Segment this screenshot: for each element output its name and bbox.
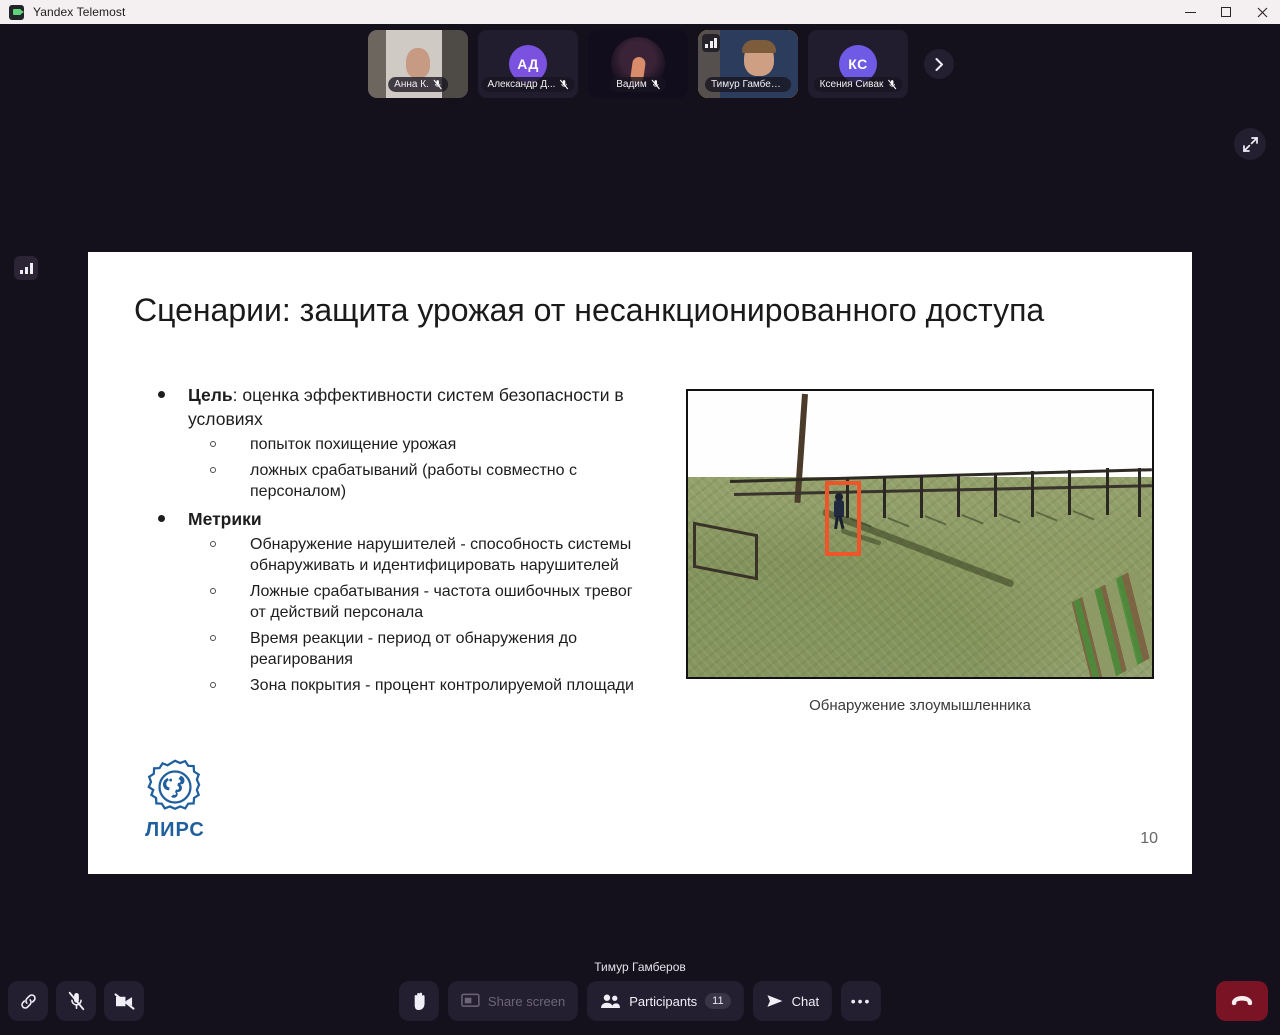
sub-bullet-item: Обнаружение нарушителей - способность си… [188,534,652,577]
expand-fullscreen-button[interactable] [1234,128,1266,160]
mic-off-icon [433,79,442,90]
filmstrip-next-button[interactable] [924,49,954,79]
raise-hand-button[interactable] [399,981,439,1021]
control-bar-center: Share screen Participants 11 Chat [399,981,881,1021]
sub-bullet-item: попыток похищение урожая [188,434,652,456]
fence-post [1068,470,1071,516]
chevron-right-icon [935,58,944,71]
lirs-logo-text: ЛИРС [136,819,214,842]
slide-bullet-list: Цель: оценка эффективности систем безопа… [140,383,652,700]
hand-icon [409,991,428,1012]
active-presenter-name: Тимур Гамберов [0,960,1280,974]
presentation-slide: Сценарии: защита урожая от несанкциониро… [88,252,1192,874]
fence-post [1106,468,1109,515]
more-options-button[interactable]: ••• [841,981,881,1021]
avatar-initials: АД [517,56,539,72]
bullet-rest: : оценка эффективности систем безопаснос… [188,385,624,429]
participant-name: Анна К. [394,79,429,90]
slide-figure: Обнаружение злоумышленника [686,389,1154,714]
minimize-button[interactable] [1172,0,1208,24]
sub-bullet-dot-icon [210,441,216,447]
participant-name: Вадим [616,79,647,90]
sub-bullet-text: ложных срабатываний (работы совместно с … [250,460,652,503]
participant-tile-aleksandr[interactable]: АД Александр Д... [478,30,578,98]
sub-bullet-text: Обнаружение нарушителей - способность си… [250,534,652,577]
share-screen-label: Share screen [488,994,565,1009]
control-bar-right [1216,981,1268,1021]
participants-label: Participants [629,994,697,1009]
participant-tile-anna[interactable]: Анна К. [368,30,468,98]
sub-bullet-item: Ложные срабатывания - частота ошибочных … [188,581,652,624]
sub-bullet-text: Зона покрытия - процент контролируемой п… [250,675,652,697]
fence-post [1138,468,1141,517]
chat-button[interactable]: Chat [753,981,832,1021]
ellipsis-icon: ••• [851,993,872,1009]
bullet-dot-icon [158,515,165,522]
gear-dragon-logo-icon [145,757,205,817]
participant-nameplate: Тимур Гамберов [705,77,791,92]
sub-bullet-text: попыток похищение урожая [250,434,652,456]
fence-post [994,473,997,517]
window-title-bar: Yandex Telemost [0,0,1280,24]
meeting-window: Анна К. АД Александр Д... [0,24,1280,1035]
bullet-lead: Метрики [188,509,262,529]
meeting-control-bar: Share screen Participants 11 Chat [0,975,1280,1035]
bullet-item: Цель: оценка эффективности систем безопа… [140,383,652,503]
slide-title: Сценарии: защита урожая от несанкциониро… [134,292,1152,329]
maximize-button[interactable] [1208,0,1244,24]
shared-screen-stage: Сценарии: защита урожая от несанкциониро… [0,100,1280,960]
share-screen-button[interactable]: Share screen [448,981,578,1021]
app-icon [9,5,24,20]
sub-bullet-item: ложных срабатываний (работы совместно с … [188,460,652,503]
figure-caption: Обнаружение злоумышленника [686,697,1154,714]
participants-count-badge: 11 [705,993,730,1009]
participant-tile-vadim[interactable]: Вадим [588,30,688,98]
bullet-text: Цель: оценка эффективности систем безопа… [188,383,652,431]
detection-bounding-box [825,481,861,556]
people-icon [600,993,621,1009]
sub-bullet-dot-icon [210,467,216,473]
participant-nameplate: Александр Д... [482,77,575,92]
window-controls [1172,0,1280,24]
screen-share-icon [461,993,480,1009]
send-icon [766,993,784,1009]
participant-nameplate: Анна К. [388,77,448,92]
participant-name: Тимур Гамберов [711,79,785,90]
screen-share-indicator-icon [14,256,38,280]
fence-post [920,475,923,518]
sub-bullet-item: Время реакции - период от обнаружения до… [188,628,652,671]
sky [688,391,1152,480]
link-icon [19,992,38,1011]
close-button[interactable] [1244,0,1280,24]
camera-button[interactable] [104,981,144,1021]
participant-tile-timur[interactable]: Тимур Гамберов [698,30,798,98]
mic-off-icon [651,79,660,90]
detection-screenshot [686,389,1154,679]
participant-tile-kseniya[interactable]: КС Ксения Сивак [808,30,908,98]
participant-nameplate: Ксения Сивак [814,77,903,92]
participant-filmstrip: Анна К. АД Александр Д... [368,28,954,100]
copy-link-button[interactable] [8,981,48,1021]
chat-label: Chat [792,994,819,1009]
sub-bullet-dot-icon [210,635,216,641]
bullet-dot-icon [158,391,165,398]
control-bar-left [8,981,144,1021]
screen-share-badge-icon [702,34,720,52]
camera-off-icon [114,993,135,1010]
fence-post [883,477,886,518]
avatar-initials: КС [848,56,867,72]
sub-bullet-item: Зона покрытия - процент контролируемой п… [188,675,652,697]
sub-bullet-dot-icon [210,682,216,688]
window-title: Yandex Telemost [33,5,125,19]
microphone-button[interactable] [56,981,96,1021]
mic-off-icon [67,991,86,1011]
slide-number: 10 [1140,830,1158,848]
lirs-logo: ЛИРС [136,757,214,842]
mic-off-icon [559,79,568,90]
mic-off-icon [887,79,896,90]
sub-bullet-dot-icon [210,541,216,547]
participant-name: Ксения Сивак [820,79,884,90]
bullet-lead: Цель [188,385,233,405]
bullet-item: Метрики Обнаружение нарушителей - способ… [140,507,652,697]
sub-bullet-text: Время реакции - период от обнаружения до… [250,628,652,671]
phone-hangup-icon [1230,995,1254,1008]
participants-button[interactable]: Participants 11 [587,981,743,1021]
sub-bullet-text: Ложные срабатывания - частота ошибочных … [250,581,652,624]
bullet-text: Метрики [188,507,652,531]
fence-post [957,474,960,517]
expand-icon [1243,137,1258,152]
fence-post [1031,471,1034,517]
hangup-button[interactable] [1216,981,1268,1021]
participant-nameplate: Вадим [610,77,666,92]
participant-name: Александр Д... [488,79,556,90]
sub-bullet-dot-icon [210,588,216,594]
